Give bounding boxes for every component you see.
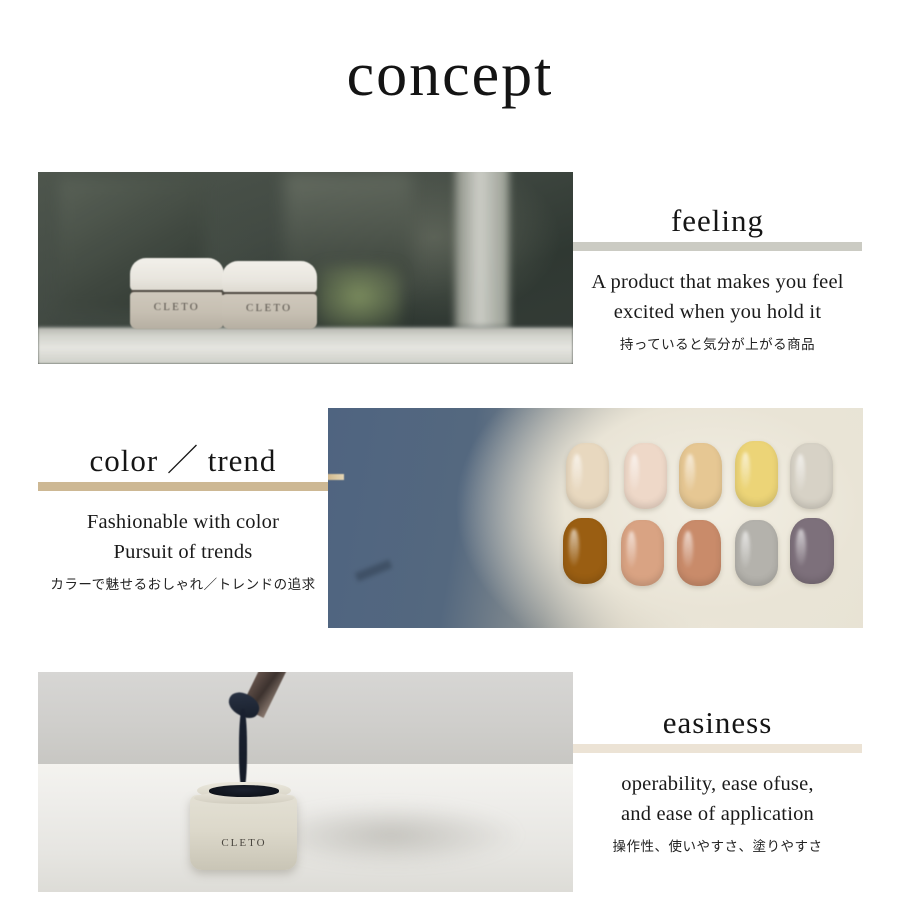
section-divider-color-trend: [38, 482, 328, 491]
body-line: excited when you hold it: [573, 298, 862, 328]
jar-gel-well: [209, 785, 280, 796]
jar-lid: [222, 261, 317, 292]
jar-lid: [130, 258, 224, 291]
page-title: concept: [0, 44, 900, 106]
jar-brand-label: CLETO: [130, 301, 224, 313]
wooden-stick: [328, 474, 344, 480]
section-heading-feeling: feeling: [573, 204, 862, 238]
section-caption-jp-feeling: 持っていると気分が上がる商品: [573, 335, 862, 355]
nail-color-swatches-photo: [328, 408, 863, 628]
section-caption-jp-easiness: 操作性、使いやすさ、塗りやすさ: [573, 837, 862, 857]
nail-swatch: [679, 443, 722, 509]
blurred-pillar: [455, 172, 509, 329]
section-easiness-text: easiness operability, ease ofuse, and ea…: [573, 706, 862, 857]
nail-swatch: [621, 520, 664, 586]
nail-swatch: [563, 518, 606, 584]
section-heading-easiness: easiness: [573, 706, 862, 740]
body-line: and ease of application: [573, 800, 862, 830]
section-color-trend-text: color ／ trend Fashionable with color Pur…: [38, 444, 328, 595]
cleto-jar-right: CLETO: [222, 261, 317, 329]
body-line: Fashionable with color: [38, 508, 328, 538]
cleto-jar-with-brush-photo: CLETO: [38, 672, 573, 892]
gel-drip: [239, 709, 246, 788]
section-divider-feeling: [573, 242, 862, 251]
section-body-color-trend: Fashionable with color Pursuit of trends: [38, 508, 328, 567]
body-line: operability, ease ofuse,: [573, 770, 862, 800]
photo-wall: [38, 672, 573, 769]
section-divider-easiness: [573, 744, 862, 753]
open-cleto-jar: CLETO: [190, 795, 297, 870]
nail-swatch: [566, 443, 609, 509]
two-cleto-jars-photo: CLETO CLETO: [38, 172, 573, 364]
nail-swatch: [677, 520, 720, 586]
jar-brand-label: CLETO: [190, 837, 297, 849]
section-feeling-text: feeling A product that makes you feel ex…: [573, 204, 862, 355]
section-body-easiness: operability, ease ofuse, and ease of app…: [573, 770, 862, 829]
nail-swatch: [790, 518, 833, 584]
photo-background: [328, 408, 863, 628]
section-caption-jp-color-trend: カラーで魅せるおしゃれ／トレンドの追求: [38, 575, 328, 595]
nail-swatch: [735, 520, 778, 586]
section-body-feeling: A product that makes you feel excited wh…: [573, 268, 862, 327]
body-line: Pursuit of trends: [38, 538, 328, 568]
jar-shadow: [263, 804, 520, 866]
nail-swatch: [624, 443, 667, 509]
blurred-foliage: [316, 264, 402, 329]
section-heading-color-trend: color ／ trend: [38, 444, 328, 478]
cleto-jar-left: CLETO: [130, 258, 224, 329]
nail-swatch: [735, 441, 778, 507]
body-line: A product that makes you feel: [573, 268, 862, 298]
jar-brand-label: CLETO: [222, 302, 317, 314]
ledge-surface: [38, 328, 573, 364]
nail-swatch: [790, 443, 833, 509]
